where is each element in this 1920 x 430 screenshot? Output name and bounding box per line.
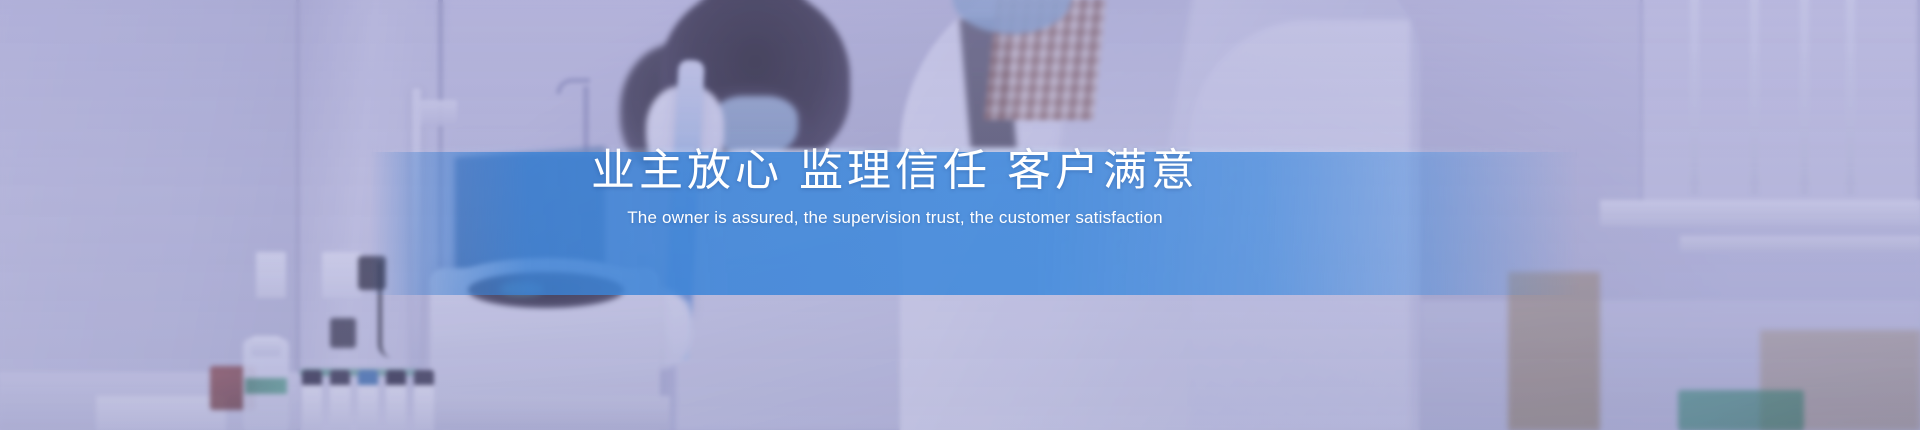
- bottle-cap: [251, 336, 281, 356]
- centrifuge-rotor: [468, 272, 624, 308]
- rail-label-tag: [421, 100, 457, 126]
- shelf-rail: [412, 88, 421, 388]
- bottle-label: [245, 378, 287, 394]
- power-cord: [378, 262, 392, 358]
- slogan-subheadline: The owner is assured, the supervision tr…: [0, 207, 1920, 229]
- centrifuge-highlight: [500, 282, 544, 296]
- wall-socket-right: [322, 252, 362, 298]
- bench-counter-step: [96, 396, 226, 430]
- green-supply-box: [1678, 390, 1804, 430]
- wall-shelf: [1680, 236, 1920, 252]
- slogan-headline: 业主放心监理信任客户满意: [0, 148, 1920, 195]
- cardboard-box: [1508, 272, 1600, 430]
- slogan-part-2: 监理信任: [799, 146, 991, 195]
- slogan-part-1: 业主放心: [591, 146, 783, 195]
- wall-socket-left: [256, 252, 286, 298]
- bench-surface: [420, 396, 670, 430]
- slogan-text-block: 业主放心监理信任客户满意 The owner is assured, the s…: [0, 148, 1920, 229]
- slogan-part-3: 客户满意: [1007, 146, 1199, 195]
- power-plug-small: [330, 318, 356, 348]
- hero-banner: 业主放心监理信任客户满意 The owner is assured, the s…: [0, 0, 1920, 430]
